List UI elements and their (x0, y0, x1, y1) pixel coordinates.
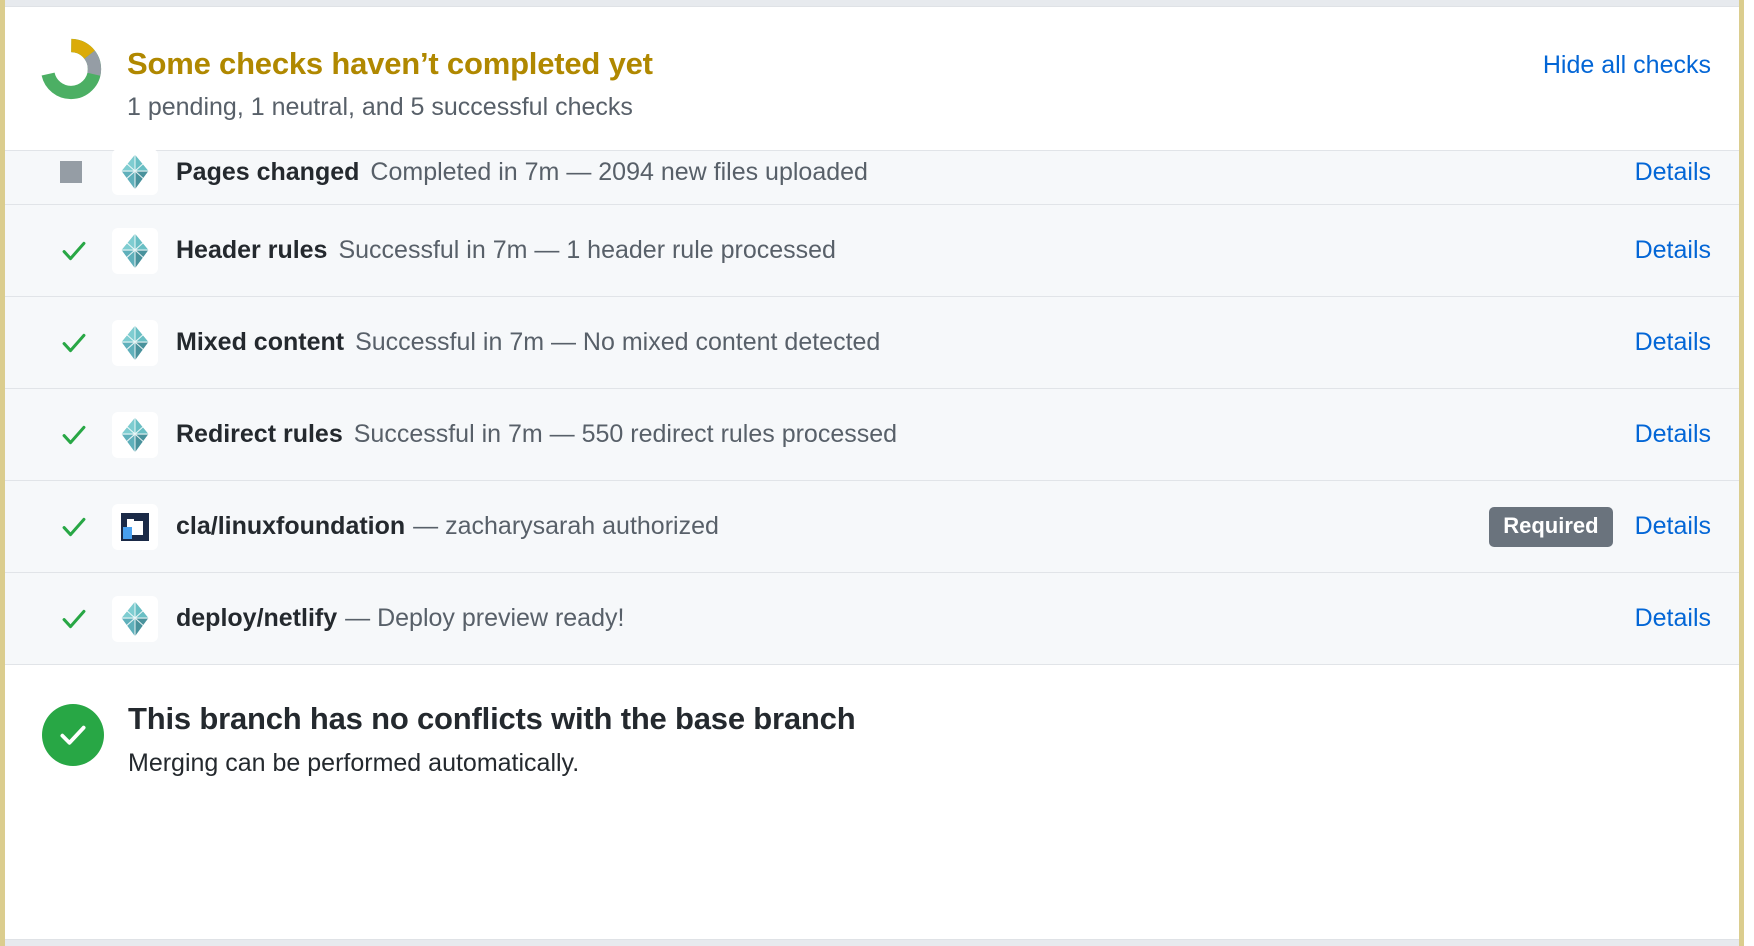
check-name: Pages changed (176, 158, 359, 187)
check-name: Header rules (176, 236, 327, 265)
check-row[interactable]: Mixed content Successful in 7m — No mixe… (5, 297, 1739, 389)
checks-header-subtitle: 1 pending, 1 neutral, and 5 successful c… (127, 90, 653, 124)
merge-box-top-edge (5, 0, 1739, 7)
check-icon (60, 237, 104, 265)
check-description: Completed in 7m — 2094 new files uploade… (370, 158, 868, 187)
details-link[interactable]: Details (1635, 604, 1711, 633)
details-link[interactable]: Details (1635, 236, 1711, 265)
neutral-square-icon (60, 161, 104, 183)
check-description: — Deploy preview ready! (345, 604, 624, 633)
check-row[interactable]: Pages changed Completed in 7m — 2094 new… (5, 151, 1739, 205)
checks-header-title: Some checks haven’t completed yet (127, 45, 653, 83)
linux-foundation-icon (112, 504, 158, 550)
checks-donut-chart-icon (40, 38, 102, 100)
checks-header: Some checks haven’t completed yet 1 pend… (5, 7, 1739, 150)
hide-all-checks-link[interactable]: Hide all checks (1543, 51, 1711, 80)
required-badge: Required (1489, 507, 1612, 547)
check-row[interactable]: deploy/netlify — Deploy preview ready! D… (5, 573, 1739, 665)
netlify-icon (112, 228, 158, 274)
checks-header-text: Some checks haven’t completed yet 1 pend… (127, 45, 653, 124)
check-description: Successful in 7m — 1 header rule process… (338, 236, 835, 265)
green-check-circle-icon (42, 704, 104, 766)
details-link[interactable]: Details (1635, 420, 1711, 449)
details-link[interactable]: Details (1635, 158, 1711, 187)
details-link[interactable]: Details (1635, 512, 1711, 541)
check-row[interactable]: Header rules Successful in 7m — 1 header… (5, 205, 1739, 297)
merge-status-subtitle: Merging can be performed automatically. (128, 746, 855, 780)
merge-box-right-border (1739, 0, 1744, 946)
merge-status-text: This branch has no conflicts with the ba… (128, 700, 855, 780)
netlify-icon (112, 149, 158, 195)
check-icon (60, 513, 104, 541)
pull-request-merge-box: Some checks haven’t completed yet 1 pend… (0, 0, 1754, 946)
check-name: Mixed content (176, 328, 344, 357)
check-description: Successful in 7m — 550 redirect rules pr… (354, 420, 897, 449)
check-name: cla/linuxfoundation (176, 512, 405, 541)
check-row[interactable]: cla/linuxfoundation — zacharysarah autho… (5, 481, 1739, 573)
netlify-icon (112, 412, 158, 458)
check-description: Successful in 7m — No mixed content dete… (355, 328, 880, 357)
merge-status-title: This branch has no conflicts with the ba… (128, 700, 855, 738)
check-name: deploy/netlify (176, 604, 337, 633)
check-name: Redirect rules (176, 420, 343, 449)
check-description: — zacharysarah authorized (413, 512, 719, 541)
check-icon (60, 421, 104, 449)
check-row[interactable]: Redirect rules Successful in 7m — 550 re… (5, 389, 1739, 481)
merge-box-bottom-edge (5, 939, 1739, 946)
netlify-icon (112, 596, 158, 642)
details-link[interactable]: Details (1635, 328, 1711, 357)
check-icon (60, 605, 104, 633)
netlify-icon (112, 320, 158, 366)
check-icon (60, 329, 104, 357)
merge-status-section: This branch has no conflicts with the ba… (5, 665, 1739, 820)
merge-box-inner: Some checks haven’t completed yet 1 pend… (5, 7, 1739, 939)
checks-list: Pages changed Completed in 7m — 2094 new… (5, 150, 1739, 665)
